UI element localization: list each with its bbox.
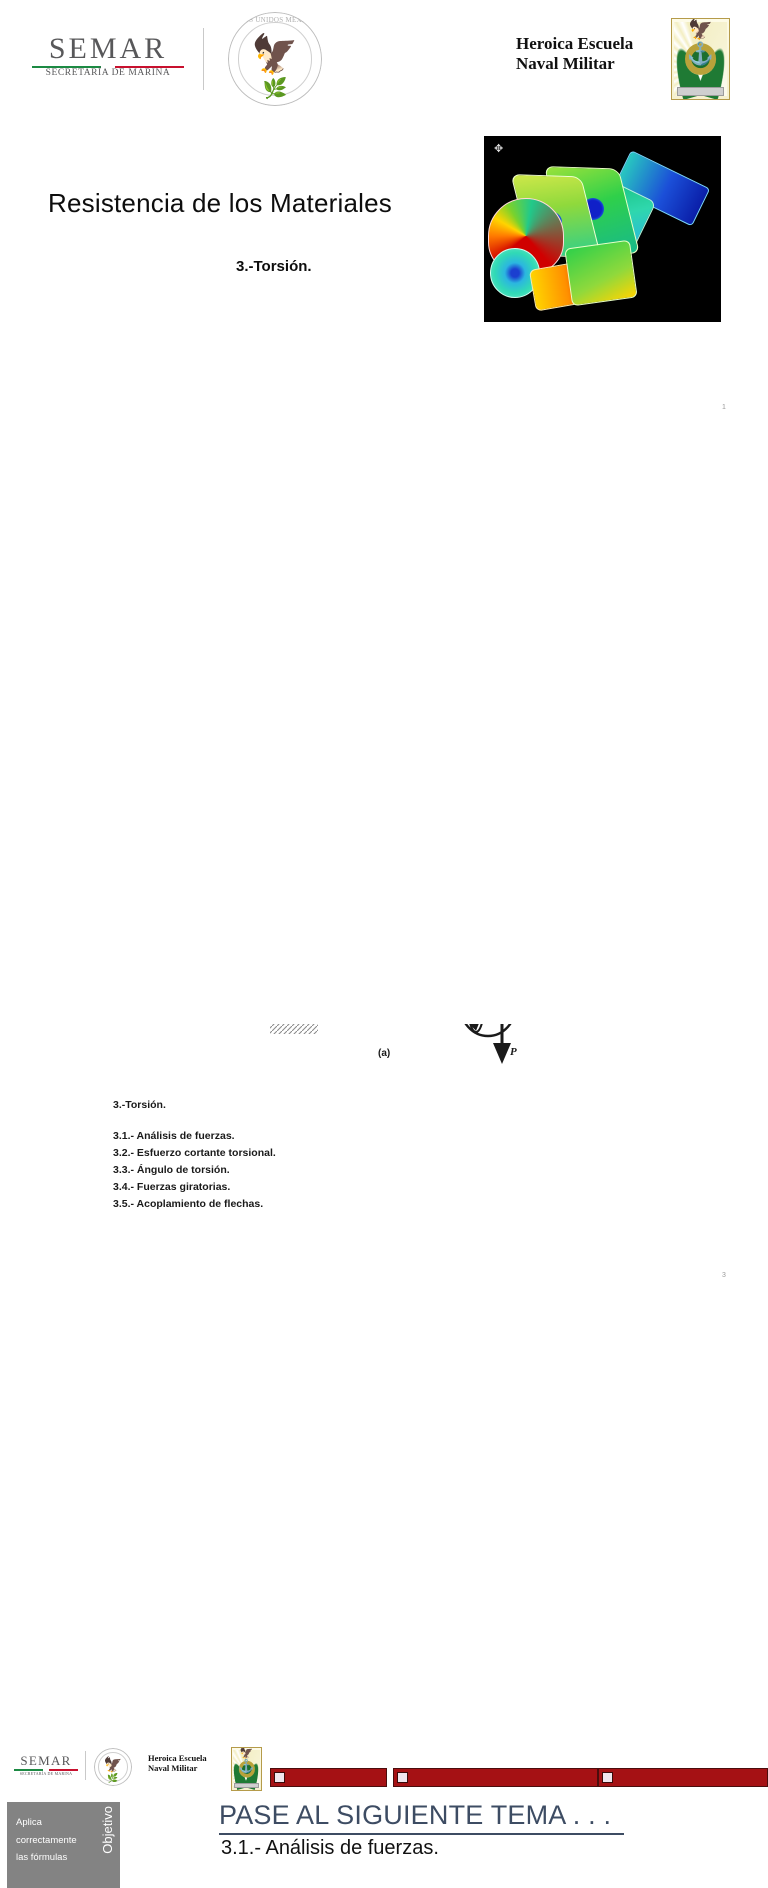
page-title: Resistencia de los Materiales <box>48 188 392 219</box>
section-subheading: 3.1.- Análisis de fuerzas. <box>221 1837 439 1860</box>
page-number: 1 <box>722 404 726 411</box>
list-item[interactable]: 3.2.- Esfuerzo cortante torsional. <box>113 1145 276 1162</box>
mexican-coat-of-arms-icon: ESTADOS UNIDOS MEXICANOS 🦅 🌿 <box>228 12 322 106</box>
school-line-1: Heroica Escuela <box>148 1754 207 1764</box>
semar-logo: SEMAR SECRETARÍA DE MARINA <box>14 1754 78 1776</box>
progress-bar-segment[interactable] <box>270 1768 387 1787</box>
semar-subtitle: SECRETARÍA DE MARINA <box>46 69 171 79</box>
list-item[interactable]: 3.5.- Acoplamiento de flechas. <box>113 1196 276 1213</box>
slide-deck-page: SEMAR SECRETARÍA DE MARINA ESTADOS UNIDO… <box>0 0 768 1024</box>
section-heading-underline <box>219 1833 624 1835</box>
bar-marker-icon <box>274 1772 285 1783</box>
bar-marker-icon <box>602 1772 613 1783</box>
school-line-1: Heroica Escuela <box>516 34 633 54</box>
coat-legend: ESTADOS UNIDOS MEXICANOS <box>228 16 322 24</box>
semar-tricolor-rule <box>14 1769 78 1771</box>
page-number: 3 <box>722 1272 726 1279</box>
naval-academy-shield-icon: 🦅 ⚓ <box>671 18 730 100</box>
toc-list: 3.1.- Análisis de fuerzas. 3.2.- Esfuerz… <box>113 1128 276 1213</box>
svg-text:P: P <box>510 1046 517 1058</box>
list-item[interactable]: 3.3.- Ángulo de torsión. <box>113 1162 276 1179</box>
semar-wordmark: SEMAR <box>20 1754 71 1767</box>
table-of-contents: 3.-Torsión. 3.1.- Análisis de fuerzas. 3… <box>113 1099 276 1213</box>
svg-text:(a): (a) <box>378 1048 390 1059</box>
objective-box: Objetivo Aplica correctamente las fórmul… <box>7 1802 120 1888</box>
toc-heading: 3.-Torsión. <box>113 1099 276 1111</box>
section-heading: PASE AL SIGUIENTE TEMA . . . <box>219 1800 611 1831</box>
progress-bar-segment[interactable] <box>393 1768 598 1787</box>
bar-marker-icon <box>397 1772 408 1783</box>
progress-bar-segment[interactable] <box>598 1768 768 1787</box>
axis-triad-icon: ✥ <box>494 142 503 155</box>
header-divider <box>85 1751 86 1780</box>
mexican-coat-of-arms-icon: 🦅 🌿 <box>94 1748 132 1786</box>
semar-logo: SEMAR SECRETARÍA DE MARINA <box>32 34 184 79</box>
school-name: Heroica Escuela Naval Militar <box>148 1754 207 1774</box>
school-line-2: Naval Militar <box>148 1764 207 1774</box>
header-divider <box>203 28 204 90</box>
objective-label: Objetivo <box>101 1806 114 1854</box>
page-subtitle: 3.-Torsión. <box>236 258 312 275</box>
crankshaft-fea-stress-image: ✥ <box>484 136 721 322</box>
list-item[interactable]: 3.1.- Análisis de fuerzas. <box>113 1128 276 1145</box>
slide-2: SEMAR SECRETARÍA DE MARINA 🦅 🌿 Heroica E… <box>0 432 768 864</box>
naval-academy-shield-icon: 🦅 ⚓ <box>231 1747 262 1791</box>
school-name: Heroica Escuela Naval Militar <box>516 34 633 73</box>
school-line-2: Naval Militar <box>516 54 633 74</box>
slide-3: SEMAR SECRETARÍA DE MARINA 🦅 🌿 Heroica E… <box>0 864 768 1024</box>
list-item[interactable]: 3.4.- Fuerzas giratorias. <box>113 1179 276 1196</box>
objective-text: Aplica correctamente las fórmulas <box>16 1814 86 1867</box>
semar-wordmark: SEMAR <box>49 34 167 64</box>
slide-1: SEMAR SECRETARÍA DE MARINA ESTADOS UNIDO… <box>0 0 768 432</box>
semar-subtitle: SECRETARÍA DE MARINA <box>20 1772 72 1776</box>
